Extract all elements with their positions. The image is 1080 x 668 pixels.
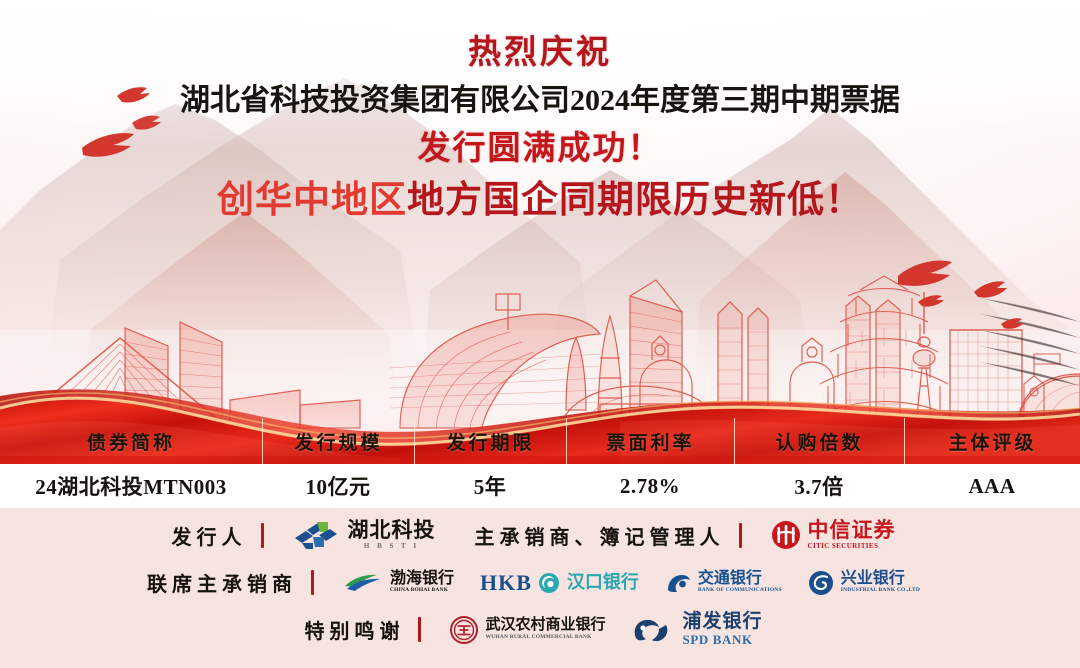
headline-line-4-part-b: 地方国企同期限历史新低！ [407,180,863,221]
logo-bank-of-communications: 交通银行 BANK OF COMMUNICATIONS [665,571,782,595]
bocom-mark-icon [665,571,691,595]
logo-china-bohai-bank: 渤海银行 CHINA BOHAI BANK [343,571,454,595]
table-header-bid-cover: 认购倍数 [734,418,904,464]
table-cell-coupon-rate: 2.78% [566,464,734,508]
table-cell-bid-cover: 3.7倍 [734,464,904,508]
headline-line-3: 发行圆满成功！ [0,133,1080,166]
spd-en: SPD BANK [683,633,763,647]
spd-mark-icon [632,616,676,644]
divider-bar-2 [739,523,742,548]
bohai-en: CHINA BOHAI BANK [390,587,454,594]
bocom-wordmark: 交通银行 BANK OF COMMUNICATIONS [698,571,782,595]
hankou-wordmark: 汉口银行 [567,573,639,592]
table-header-row: 债券简称 发行规模 发行期限 票面利率 认购倍数 主体评级 [0,418,1080,464]
wrcb-en: WUHAN RURAL COMMERCIAL BANK [485,634,605,641]
logo-hubei-keto: 湖北科投 H B S T I [293,519,436,553]
logo-hankou-bank: HKB 汉口银行 [480,570,639,596]
special-thanks-label: 特别鸣谢 [304,615,404,644]
wrcb-wordmark: 武汉农村商业银行 WUHAN RURAL COMMERCIAL BANK [485,618,605,641]
wrcb-cn: 武汉农村商业银行 [485,618,605,634]
table-cell-issue-size: 10亿元 [262,464,414,508]
table-cell-rating: AAA [904,464,1080,508]
table-row: 24湖北科投MTN003 10亿元 5年 2.78% 3.7倍 AAA [0,464,1080,508]
lead-underwriter-label: 主承销商、簿记管理人 [475,521,725,550]
issuer-label: 发行人 [172,521,247,550]
logo-spd-bank: 浦发银行 SPD BANK [632,612,763,647]
hbsti-pinwheel-icon [293,519,341,553]
partner-row-issuer: 发行人 湖北科投 H B S T I [0,512,1080,559]
bond-summary-table: 债券简称 发行规模 发行期限 票面利率 认购倍数 主体评级 24湖北科投MTN0… [0,418,1080,508]
table-header-bond-name: 债券简称 [0,418,262,464]
cib-cn: 兴业银行 [841,571,920,588]
divider-bar-3 [311,570,314,595]
table-cell-tenor: 5年 [414,464,566,508]
divider-bar [261,523,264,548]
hankou-abbr: HKB [480,570,532,596]
table-header-issue-size: 发行规模 [262,418,414,464]
hubei-keto-cn: 湖北科投 [348,519,436,541]
logo-industrial-bank: 兴业银行 INDUSTRIAL BANK CO.,LTD [808,570,920,596]
citic-en: CITIC SECURITIES [808,542,896,551]
bohai-cn: 渤海银行 [390,571,454,588]
partner-row-special-thanks: 特别鸣谢 武汉农村商业银行 WUHAN RURAL COMMERCIA [0,606,1080,653]
headline-line-4: 创华中地区地方国企同期限历史新低！ [0,182,1080,219]
hubei-keto-en: H B S T I [348,542,436,551]
headline-line-2: 湖北省科技投资集团有限公司2024年度第三期中期票据 [0,86,1080,116]
citic-cn: 中信证券 [808,519,896,541]
cib-en: INDUSTRIAL BANK CO.,LTD [841,587,920,594]
hubei-keto-wordmark: 湖北科投 H B S T I [348,519,436,551]
table-header-rating: 主体评级 [904,418,1080,464]
logo-citic-securities: 中信证券 CITIC SECURITIES [771,519,896,551]
bohai-wordmark: 渤海银行 CHINA BOHAI BANK [390,571,454,595]
cib-wordmark: 兴业银行 INDUSTRIAL BANK CO.,LTD [841,571,920,595]
poster-canvas: 热烈庆祝 湖北省科技投资集团有限公司2024年度第三期中期票据 发行圆满成功！ … [0,0,1080,668]
cib-mark-icon [808,570,834,596]
headline-line-4-part-a: 创华中地区 [217,180,407,221]
joint-underwriter-label: 联席主承销商 [147,568,297,597]
logo-wuhan-rural-commercial-bank: 武汉农村商业银行 WUHAN RURAL COMMERCIAL BANK [450,616,605,644]
wrcb-mark-icon [450,616,478,644]
partner-row-joint-underwriters: 联席主承销商 渤海银行 CHINA BOHAI BANK HKB [0,559,1080,606]
table-cell-bond-name: 24湖北科投MTN003 [0,464,262,508]
divider-bar-4 [418,617,421,642]
hankou-mark-icon [538,572,560,594]
hankou-cn: 汉口银行 [567,573,639,592]
bohai-wave-icon [343,571,383,595]
table-header-tenor: 发行期限 [414,418,566,464]
citic-wordmark: 中信证券 CITIC SECURITIES [808,519,896,551]
spd-cn: 浦发银行 [683,612,763,633]
citic-mark-icon [771,520,801,550]
headline-block: 热烈庆祝 湖北省科技投资集团有限公司2024年度第三期中期票据 发行圆满成功！ … [0,0,1080,219]
partner-logo-section: 发行人 湖北科投 H B S T I [0,512,1080,653]
bocom-cn: 交通银行 [698,571,782,588]
headline-line-1: 热烈庆祝 [0,37,1080,70]
bocom-en: BANK OF COMMUNICATIONS [698,587,782,594]
spd-wordmark: 浦发银行 SPD BANK [683,612,763,647]
table-header-coupon-rate: 票面利率 [566,418,734,464]
